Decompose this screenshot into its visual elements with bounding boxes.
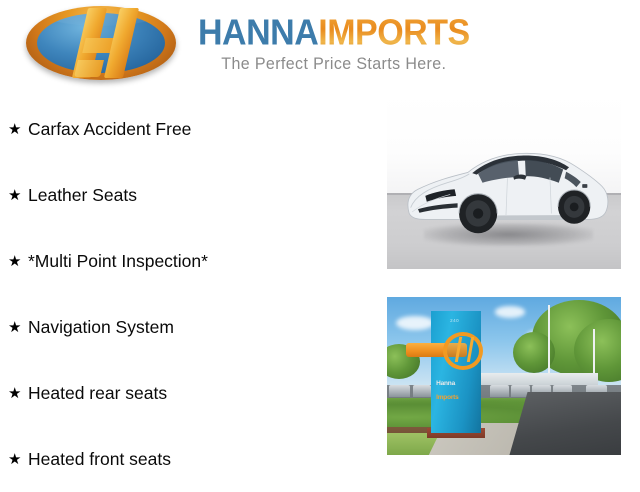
star-bullet-icon: ★	[8, 386, 28, 401]
wordmark-imports: IMPORTS	[318, 13, 469, 53]
list-item: ★ Heated front seats	[0, 426, 380, 492]
sign-address-number: 240	[450, 318, 459, 323]
sign-h-ring-icon	[443, 332, 483, 370]
parked-car	[389, 385, 410, 396]
feature-label: Carfax Accident Free	[28, 119, 191, 140]
hanna-imports-logo[interactable]: HANNAIMPORTS The Perfect Price Starts He…	[26, 6, 470, 80]
list-item: ★ Heated rear seats	[0, 360, 380, 426]
hanna-oval-h-emblem-icon	[26, 6, 176, 80]
feature-label: *Multi Point Inspection*	[28, 251, 208, 272]
page-header: HANNAIMPORTS The Perfect Price Starts He…	[0, 0, 640, 88]
feature-label: Navigation System	[28, 317, 174, 338]
logo-wordmark: HANNAIMPORTS	[198, 15, 470, 51]
vehicle-photo[interactable]	[387, 93, 621, 269]
cloud	[495, 306, 525, 317]
list-item: ★ Navigation System	[0, 294, 380, 360]
sign-text-hanna: Hanna	[436, 381, 455, 388]
star-bullet-icon: ★	[8, 452, 28, 467]
logo-wordmark-group: HANNAIMPORTS The Perfect Price Starts He…	[198, 16, 470, 74]
list-item: ★ Carfax Accident Free	[0, 96, 380, 162]
star-bullet-icon: ★	[8, 320, 28, 335]
vehicle-feature-list: ★ Carfax Accident Free ★ Leather Seats ★…	[0, 96, 380, 492]
wordmark-hanna: HANNA	[198, 13, 318, 53]
logo-tagline: The Perfect Price Starts Here.	[202, 55, 466, 74]
feature-label: Heated front seats	[28, 449, 171, 470]
monument-sign	[431, 311, 480, 433]
parked-car	[490, 385, 509, 396]
tesla-model-3-illustration	[396, 123, 616, 250]
dealership-photo[interactable]: 240 Hanna Imports	[387, 297, 621, 455]
star-bullet-icon: ★	[8, 188, 28, 203]
cloud	[396, 316, 433, 330]
star-bullet-icon: ★	[8, 254, 28, 269]
driveway	[509, 392, 621, 455]
star-bullet-icon: ★	[8, 122, 28, 137]
feature-label: Heated rear seats	[28, 383, 167, 404]
sign-text-imports: Imports	[436, 395, 458, 402]
list-item: ★ Leather Seats	[0, 162, 380, 228]
parked-car	[413, 385, 432, 396]
list-item: ★ *Multi Point Inspection*	[0, 228, 380, 294]
feature-label: Leather Seats	[28, 185, 137, 206]
emblem-h-foot	[74, 60, 104, 77]
